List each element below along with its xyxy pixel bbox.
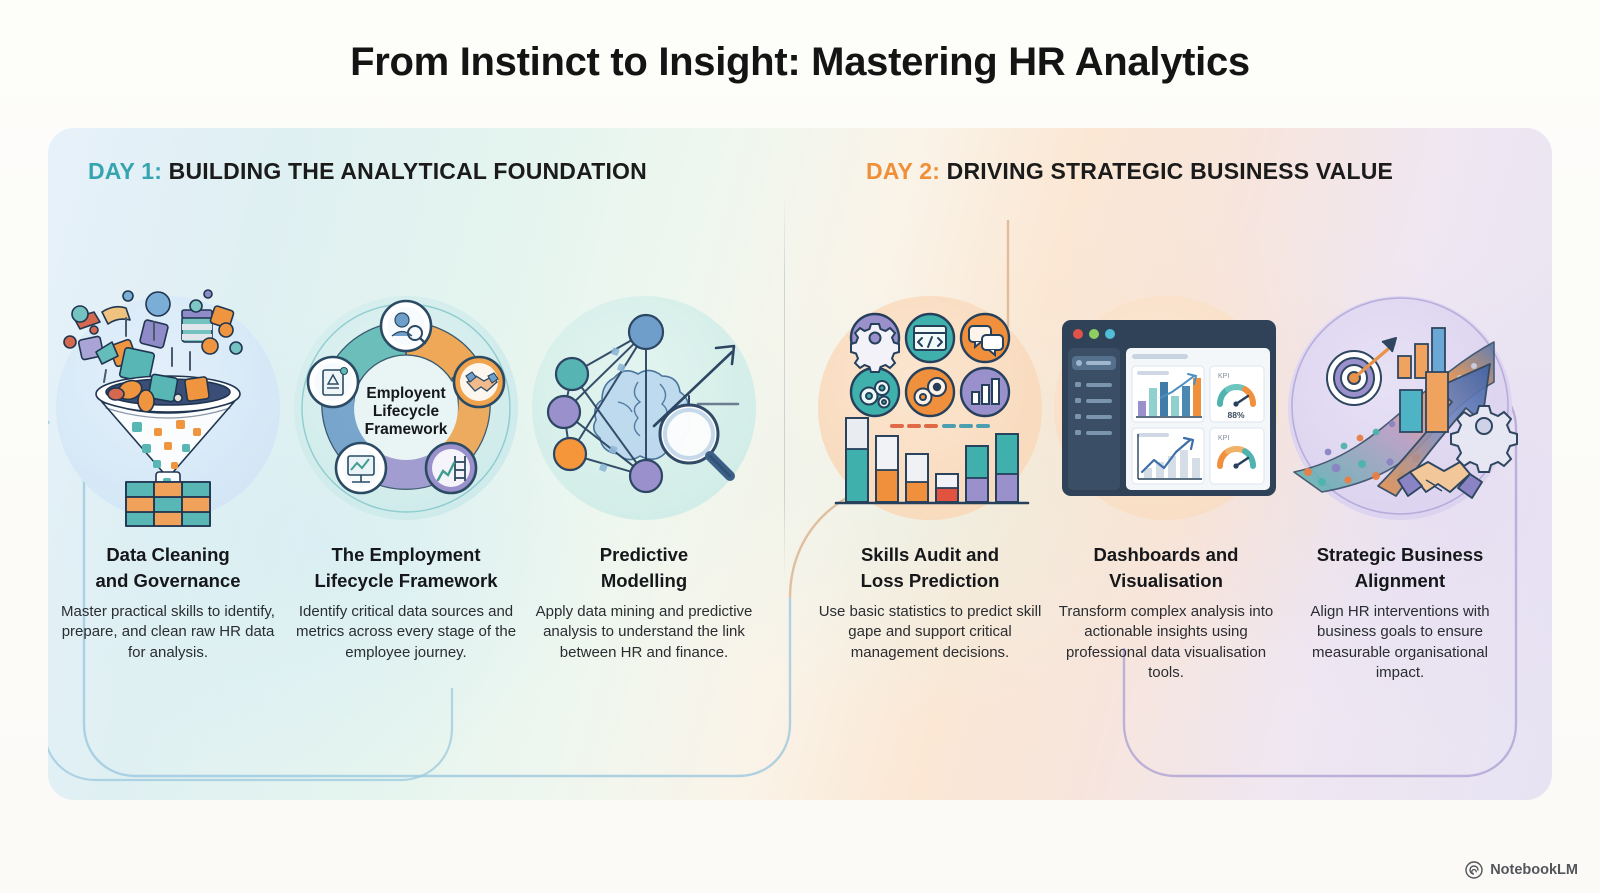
- card-employment-lifecycle[interactable]: Employent Lifecycle Framework The Employ…: [288, 286, 524, 663]
- card-title-line-1: The Employment: [288, 542, 524, 568]
- window-minimize-dot: [1089, 329, 1099, 339]
- card-predictive-modelling[interactable]: Predictive Modelling Apply data mining a…: [526, 286, 762, 663]
- card-description: Apply data mining and predictive analysi…: [526, 602, 762, 663]
- card-title: Skills Audit and Loss Prediction: [812, 542, 1048, 593]
- day-2-header: DAY 2: DRIVING STRATEGIC BUSINESS VALUE: [866, 158, 1393, 185]
- card-title-line-2: Lifecycle Framework: [288, 568, 524, 594]
- card-description: Align HR interventions with business goa…: [1282, 602, 1518, 684]
- watermark: NotebookLM: [1465, 861, 1578, 879]
- lifecycle-center-line-2: Lifecycle: [373, 403, 440, 420]
- day-1-header: DAY 1: BUILDING THE ANALYTICAL FOUNDATIO…: [88, 158, 647, 185]
- gauge-1-value: 88%: [1227, 410, 1244, 420]
- lifecycle-center-line-3: Framework: [365, 421, 448, 438]
- gauge-2-label: KPI: [1218, 435, 1229, 442]
- card-title-line-2: Modelling: [526, 568, 762, 594]
- card-dashboards[interactable]: KPI 88%: [1048, 286, 1284, 684]
- card-title-line-1: Skills Audit and: [812, 542, 1048, 568]
- card-title-line-1: Predictive: [526, 542, 762, 568]
- card-title-line-2: Visualisation: [1048, 568, 1284, 594]
- card-title: Predictive Modelling: [526, 542, 762, 593]
- card-description: Master practical skills to identify, pre…: [50, 602, 286, 663]
- card-title-line-2: and Governance: [50, 568, 286, 594]
- page-title: From Instinct to Insight: Mastering HR A…: [0, 40, 1600, 85]
- card-title-line-2: Alignment: [1282, 568, 1518, 594]
- window-maximize-dot: [1105, 329, 1115, 339]
- day-divider: [784, 196, 785, 580]
- card-title-line-1: Data Cleaning: [50, 542, 286, 568]
- card-title: Data Cleaning and Governance: [50, 542, 286, 593]
- card-title: Strategic Business Alignment: [1282, 542, 1518, 593]
- gauge-1-label: KPI: [1218, 373, 1229, 380]
- card-title-line-1: Strategic Business: [1282, 542, 1518, 568]
- card-title-line-1: Dashboards and: [1048, 542, 1284, 568]
- card-description: Identify critical data sources and metri…: [288, 602, 524, 663]
- lifecycle-center-line-1: Employent: [366, 385, 445, 402]
- funnel-data-cube-icon: [50, 286, 286, 530]
- day-2-label: DAY 2:: [866, 158, 940, 184]
- card-title-line-2: Loss Prediction: [812, 568, 1048, 594]
- neural-network-brain-magnifier-icon: [526, 286, 762, 530]
- card-title: Dashboards and Visualisation: [1048, 542, 1284, 593]
- card-data-cleaning[interactable]: Data Cleaning and Governance Master prac…: [50, 286, 286, 663]
- skill-icons-bar-chart-icon: [812, 286, 1048, 530]
- card-description: Use basic statistics to predict skill ga…: [812, 602, 1048, 663]
- day-1-title: BUILDING THE ANALYTICAL FOUNDATION: [169, 158, 647, 184]
- target-arrow-growth-handshake-icon: [1282, 286, 1518, 530]
- day-1-label: DAY 1:: [88, 158, 162, 184]
- card-description: Transform complex analysis into actionab…: [1048, 602, 1284, 684]
- dashboard-window-icon: KPI 88%: [1048, 286, 1284, 530]
- card-strategic-alignment[interactable]: Strategic Business Alignment Align HR in…: [1282, 286, 1518, 684]
- notebooklm-spiral-icon: [1465, 861, 1483, 879]
- infographic-page: From Instinct to Insight: Mastering HR A…: [0, 0, 1600, 893]
- card-skills-audit[interactable]: Skills Audit and Loss Prediction Use bas…: [812, 286, 1048, 663]
- card-title: The Employment Lifecycle Framework: [288, 542, 524, 593]
- day-2-title: DRIVING STRATEGIC BUSINESS VALUE: [947, 158, 1393, 184]
- watermark-label: NotebookLM: [1490, 862, 1578, 878]
- window-close-dot: [1073, 329, 1083, 339]
- lifecycle-cycle-icon: Employent Lifecycle Framework: [288, 286, 524, 530]
